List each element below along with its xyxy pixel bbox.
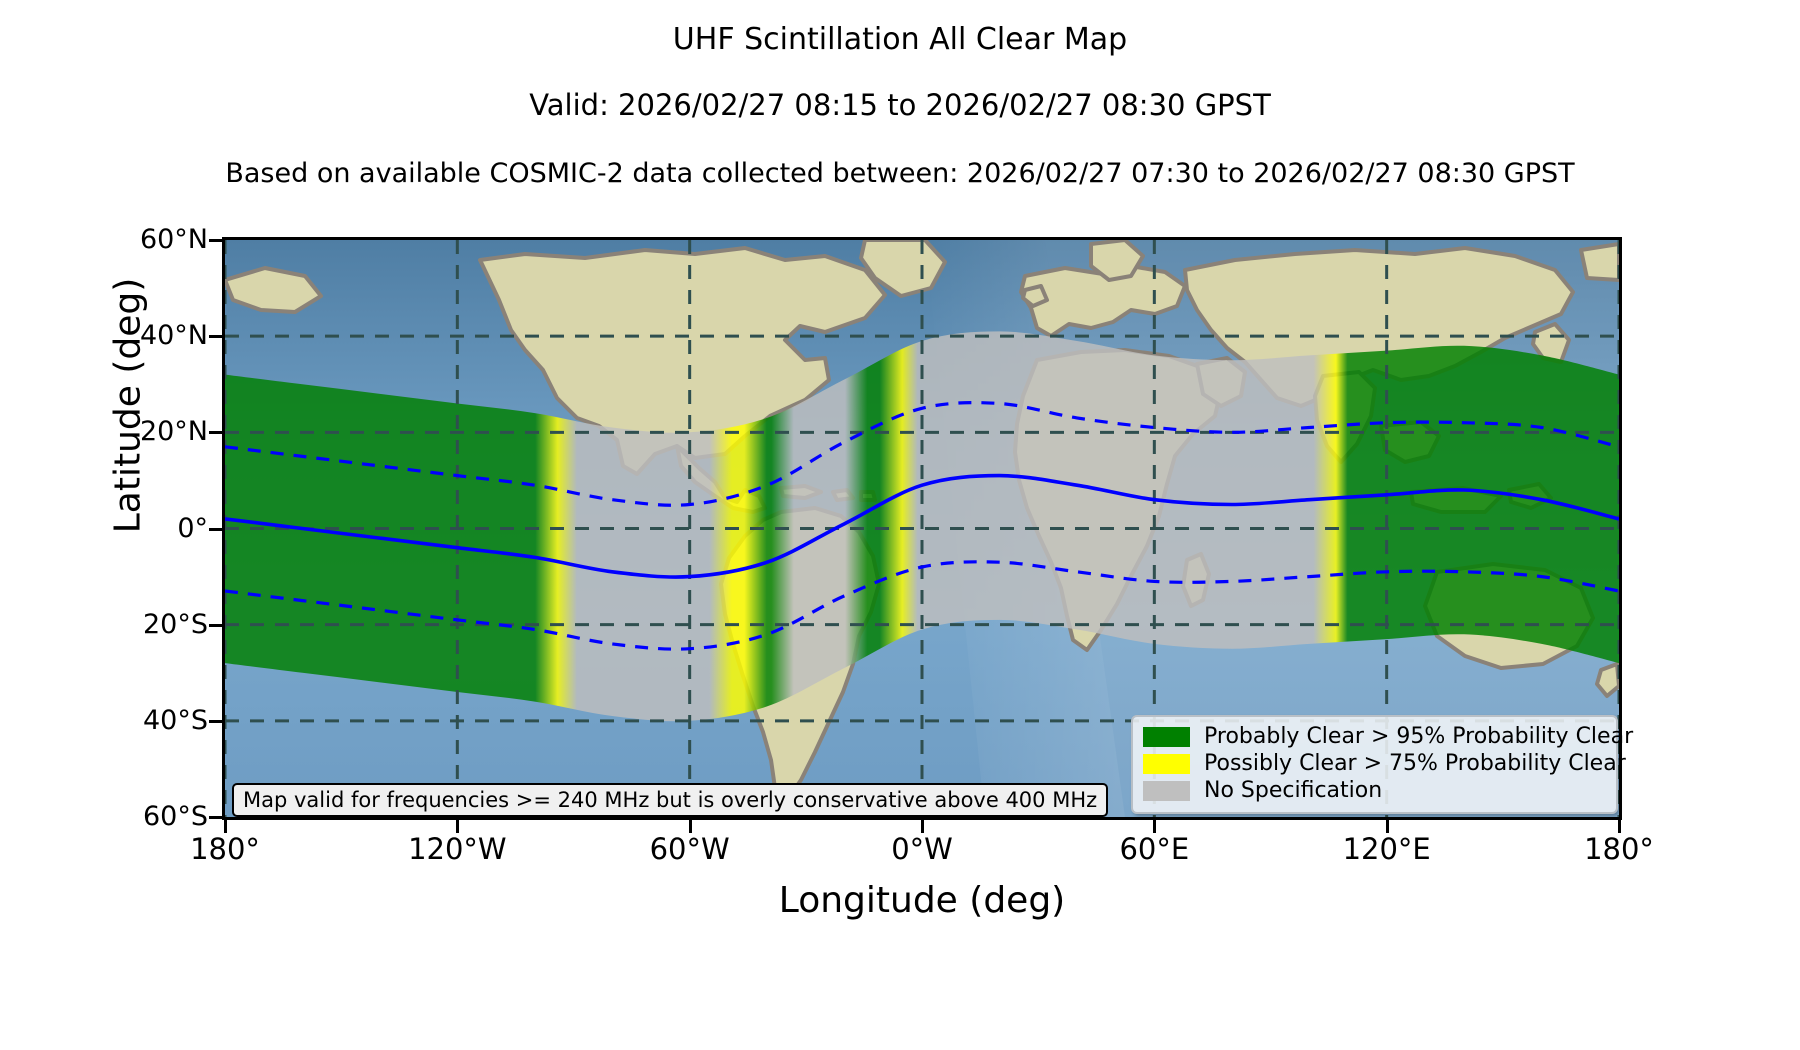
x-tick-label-4: 60°E [1054, 832, 1254, 866]
y-tick-mark-4 [209, 624, 222, 627]
y-axis-label: Latitude (deg) [108, 56, 149, 756]
x-tick-label-1: 120°W [357, 832, 557, 866]
x-tick-mark-3 [921, 820, 924, 833]
scintillation-boundary-north [225, 403, 1619, 506]
y-tick-mark-6 [209, 816, 222, 819]
x-tick-label-0: 180° [125, 832, 325, 866]
data-basis-text: Based on available COSMIC-2 data collect… [0, 158, 1800, 189]
y-tick-mark-3 [209, 528, 222, 531]
x-tick-mark-5 [1386, 820, 1389, 833]
y-tick-mark-2 [209, 431, 222, 434]
legend-label-2: No Specification [1204, 778, 1382, 803]
x-tick-label-5: 120°E [1287, 832, 1487, 866]
x-tick-label-2: 60°W [590, 832, 790, 866]
frequency-validity-note: Map valid for frequencies >= 240 MHz but… [232, 783, 1108, 817]
x-axis-label: Longitude (deg) [222, 880, 1622, 921]
legend-swatch-no-specification [1143, 781, 1190, 801]
legend-swatch-possibly-clear [1143, 754, 1190, 774]
scintillation-boundary-south [225, 562, 1619, 649]
legend-row-0: Probably Clear > 95% Probability Clear [1143, 723, 1606, 750]
x-tick-mark-4 [1153, 820, 1156, 833]
legend-label-0: Probably Clear > 95% Probability Clear [1204, 724, 1633, 749]
page-title: UHF Scintillation All Clear Map [0, 22, 1800, 57]
legend-label-1: Possibly Clear > 75% Probability Clear [1204, 751, 1626, 776]
x-tick-mark-0 [224, 820, 227, 833]
y-tick-mark-0 [209, 239, 222, 242]
x-tick-label-3: 0°W [822, 832, 1022, 866]
y-tick-mark-1 [209, 335, 222, 338]
magnetic-equator-line [225, 476, 1619, 577]
valid-time-text: Valid: 2026/02/27 08:15 to 2026/02/27 08… [0, 88, 1800, 122]
legend-row-1: Possibly Clear > 75% Probability Clear [1143, 750, 1606, 777]
x-tick-mark-2 [689, 820, 692, 833]
x-tick-mark-6 [1618, 820, 1621, 833]
map-legend: Probably Clear > 95% Probability ClearPo… [1131, 715, 1618, 814]
y-tick-mark-5 [209, 720, 222, 723]
x-tick-mark-1 [456, 820, 459, 833]
legend-swatch-probably-clear [1143, 727, 1190, 747]
x-tick-label-6: 180° [1519, 832, 1719, 866]
legend-row-2: No Specification [1143, 777, 1606, 804]
y-tick-label-6: 60°S [28, 803, 208, 830]
